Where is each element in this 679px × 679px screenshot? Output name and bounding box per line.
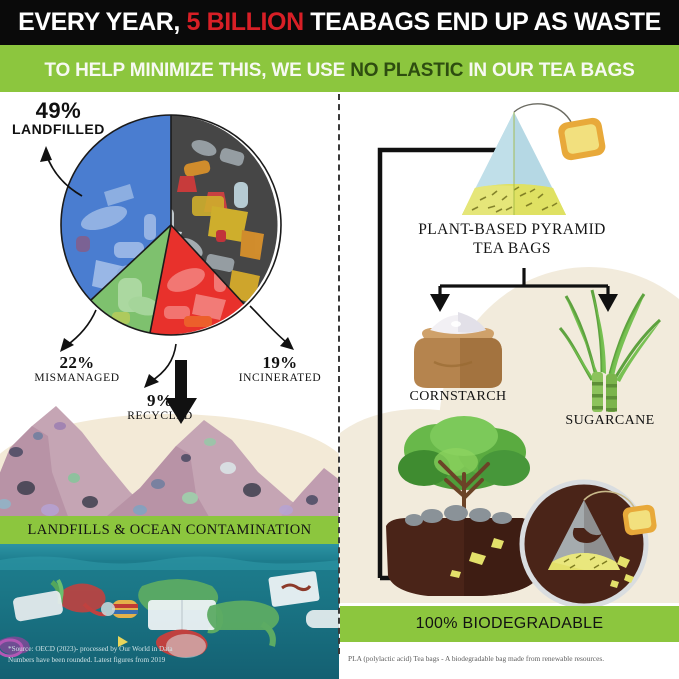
leader-arrow-incinerated [248,304,304,356]
pyramid-teabag-illustration [422,100,612,226]
label-pyramid-teabags: PLANT-BASED PYRAMID TEA BAGS [402,220,622,259]
label-landfilled: 49% LANDFILLED [12,100,105,137]
incinerated-percent: 19% [228,354,332,372]
source-note-line1: *Source: OECD (2023)- processed by Our W… [8,644,248,655]
mismanaged-percent: 22% [22,354,132,372]
landfilled-name: LANDFILLED [12,122,105,136]
cornstarch-illustration [400,304,518,392]
headline-secondary: TO HELP MINIMIZE THIS, WE USE NO PLASTIC… [44,61,634,80]
headline-secondary-pre: TO HELP MINIMIZE THIS, WE USE [44,60,350,81]
landfilled-percent: 49% [12,100,105,122]
banner-biodegradable: 100% BIODEGRADABLE [340,606,679,642]
source-note: *Source: OECD (2023)- processed by Our W… [8,644,248,666]
headline-primary-pre: EVERY YEAR, [18,8,186,36]
mismanaged-name: MISMANAGED [22,372,132,384]
header-green-band: TO HELP MINIMIZE THIS, WE USE NO PLASTIC… [0,48,679,92]
ocean-scene: *Source: OECD (2023)- processed by Our W… [0,544,339,679]
banner-landfills-ocean: LANDFILLS & OCEAN CONTAMINATION [0,516,339,545]
headline-secondary-post: IN OUR TEA BAGS [463,60,634,81]
leader-arrow-landfilled [24,140,94,200]
label-cornstarch: CORNSTARCH [388,388,528,406]
arrow-down-to-landfill [165,360,199,426]
infographic-root: EVERY YEAR, 5 BILLION TEABAGS END UP AS … [0,0,679,679]
headline-primary-highlight: 5 BILLION [187,8,304,36]
biodegradation-illustration [368,410,668,610]
banner-landfills-ocean-text: LANDFILLS & OCEAN CONTAMINATION [28,522,312,539]
headline-primary: EVERY YEAR, 5 BILLION TEABAGS END UP AS … [18,10,661,35]
right-panel-solution: PLANT-BASED PYRAMID TEA BAGS CORNSTARCH [340,92,679,679]
headline-secondary-highlight: NO PLASTIC [350,60,463,81]
banner-biodegradable-text: 100% BIODEGRADABLE [416,615,604,633]
sugarcane-illustration [558,284,668,414]
pyramid-label-line2: TEA BAGS [402,239,622,258]
headline-primary-post: TEABAGS END UP AS WASTE [304,8,661,36]
pla-note: PLA (polylactic acid) Tea bags - A biode… [348,654,678,664]
header-black-band: EVERY YEAR, 5 BILLION TEABAGS END UP AS … [0,0,679,45]
leader-arrow-mismanaged [46,308,106,356]
label-incinerated: 19% INCINERATED [228,354,332,384]
label-mismanaged: 22% MISMANAGED [22,354,132,384]
left-panel-waste: 49% LANDFILLED 22% MISMANAGED 9% RECYCLE… [0,92,339,679]
source-note-line2: Numbers have been rounded. Latest figure… [8,655,248,666]
incinerated-name: INCINERATED [228,372,332,384]
pyramid-label-line1: PLANT-BASED PYRAMID [402,220,622,239]
